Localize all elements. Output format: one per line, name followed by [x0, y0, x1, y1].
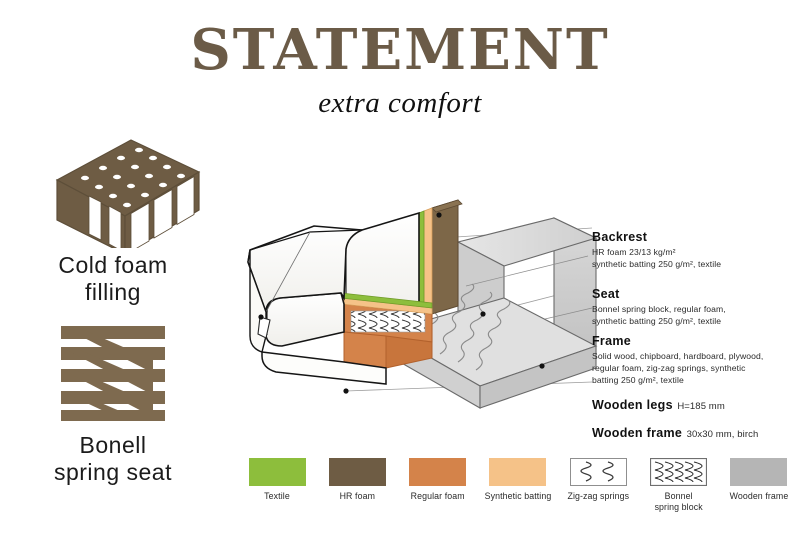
- legend-item-zigzag-springs: Zig-zag springs: [561, 458, 635, 502]
- title-block: STATEMENT extra comfort: [0, 22, 800, 120]
- callout-title: Backrest: [592, 230, 647, 244]
- legend-swatch-wooden-frame: [730, 458, 787, 486]
- material-legend: Textile HR foam Regular foam Synthetic b…: [240, 458, 796, 512]
- callout-detail-line-2: synthetic batting 250 g/m², textile: [592, 316, 726, 328]
- cold-foam-block-icon: [8, 128, 218, 248]
- legend-label: Bonnelspring block: [642, 491, 716, 512]
- legend-item-regular-foam: Regular foam: [401, 458, 475, 502]
- callout-detail-line-1: Bonnel spring block, regular foam,: [592, 304, 726, 316]
- legend-item-bonnel-spring-block: Bonnelspring block: [642, 458, 716, 512]
- feature-caption-line-2: filling: [8, 279, 218, 306]
- callout-detail: Solid wood, chipboard, hardboard, plywoo…: [592, 351, 763, 387]
- callout-backrest: Backrest HR foam 23/13 kg/m² synthetic b…: [592, 228, 721, 271]
- feature-bonell-caption: Bonell spring seat: [8, 432, 218, 485]
- callout-detail-line-1: HR foam 23/13 kg/m²: [592, 247, 721, 259]
- callout-frame: Frame Solid wood, chipboard, hardboard, …: [592, 332, 763, 387]
- infographic-page: STATEMENT extra comfort: [0, 0, 800, 533]
- callout-wooden-legs: Wooden legs H=185 mm: [592, 396, 725, 414]
- callout-seat: Seat Bonnel spring block, regular foam, …: [592, 285, 726, 328]
- callout-title: Wooden legs: [592, 398, 673, 412]
- legend-swatch-synthetic-batting: [489, 458, 546, 486]
- marker-backrest: [436, 212, 441, 217]
- callout-wooden-frame: Wooden frame 30x30 mm, birch: [592, 424, 758, 442]
- legend-label: Textile: [240, 491, 314, 502]
- callout-detail: Bonnel spring block, regular foam, synth…: [592, 304, 726, 328]
- legend-label: Synthetic batting: [481, 491, 555, 502]
- legend-item-hr-foam: HR foam: [320, 458, 394, 502]
- legend-swatch-textile: [249, 458, 306, 486]
- legend-label: Regular foam: [401, 491, 475, 502]
- legend-label: Zig-zag springs: [561, 491, 635, 502]
- callout-title: Frame: [592, 334, 631, 348]
- callout-detail-line-3: batting 250 g/m², textile: [592, 375, 763, 387]
- callout-spec: 30x30 mm, birch: [687, 429, 759, 440]
- marker-seat: [480, 311, 485, 316]
- callout-detail-line-2: synthetic batting 250 g/m², textile: [592, 259, 721, 271]
- page-subtitle: extra comfort: [0, 87, 800, 120]
- feature-cold-foam-filling: Cold foam filling: [8, 128, 218, 305]
- legend-swatch-hr-foam: [329, 458, 386, 486]
- callout-spec: H=185 mm: [677, 401, 725, 412]
- callout-detail-line-2: regular foam, zig-zag springs, synthetic: [592, 363, 763, 375]
- feature-caption-line-2: spring seat: [8, 459, 218, 486]
- feature-caption-line-1: Cold foam: [8, 252, 218, 279]
- legend-label: Wooden frame: [722, 491, 796, 502]
- legend-item-textile: Textile: [240, 458, 314, 502]
- callout-title: Seat: [592, 287, 620, 301]
- marker-frame: [539, 363, 544, 368]
- zigzag-spring-icon: [8, 320, 218, 428]
- feature-cold-foam-caption: Cold foam filling: [8, 252, 218, 305]
- callout-detail-line-1: Solid wood, chipboard, hardboard, plywoo…: [592, 351, 763, 363]
- legend-item-wooden-frame: Wooden frame: [722, 458, 796, 502]
- feature-caption-line-1: Bonell: [8, 432, 218, 459]
- callout-detail: HR foam 23/13 kg/m² synthetic batting 25…: [592, 247, 721, 271]
- marker-wooden-legs: [258, 314, 263, 319]
- legend-item-synthetic-batting: Synthetic batting: [481, 458, 555, 502]
- legend-swatch-bonnel-spring-block: [650, 458, 707, 486]
- legend-swatch-regular-foam: [409, 458, 466, 486]
- page-title: STATEMENT: [0, 22, 800, 78]
- feature-bonell-spring-seat: Bonell spring seat: [8, 320, 218, 485]
- callout-title: Wooden frame: [592, 426, 682, 440]
- legend-swatch-zigzag-springs: [570, 458, 627, 486]
- legend-label: HR foam: [320, 491, 394, 502]
- marker-wooden-frame: [343, 388, 348, 393]
